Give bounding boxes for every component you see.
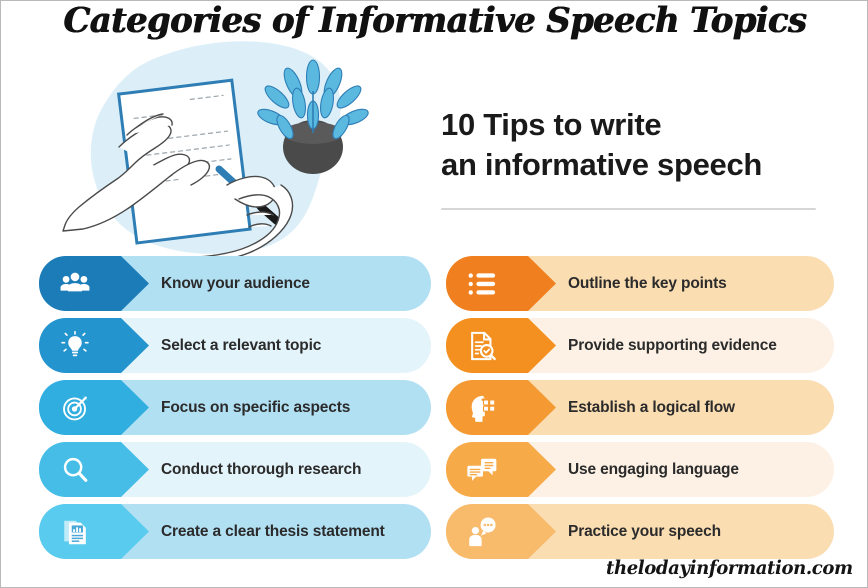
document-chart-icon: [60, 517, 90, 547]
left-tips-column: Know your audienceSelect a relevant topi…: [39, 256, 431, 566]
tip-row[interactable]: Practice your speech: [446, 504, 834, 559]
tip-label: Conduct thorough research: [161, 442, 361, 497]
right-tips-column: Outline the key pointsProvide supporting…: [446, 256, 834, 566]
document-search-icon: [467, 331, 497, 361]
tip-label: Practice your speech: [568, 504, 721, 559]
tip-row[interactable]: Provide supporting evidence: [446, 318, 834, 373]
right-heading: 10 Tips to write an informative speech: [441, 105, 841, 185]
tip-row[interactable]: Know your audience: [39, 256, 431, 311]
hands-writing-illustration: [61, 29, 441, 261]
person-speaking-icon: [467, 517, 497, 547]
tip-label: Create a clear thesis statement: [161, 504, 385, 559]
bullet-list-icon: [467, 269, 497, 299]
tip-row[interactable]: Select a relevant topic: [39, 318, 431, 373]
chat-bubbles-icon: [467, 455, 497, 485]
head-puzzle-icon: [467, 393, 497, 423]
tip-row[interactable]: Establish a logical flow: [446, 380, 834, 435]
watermark-url: thelodayinformation.com: [606, 557, 853, 579]
tip-label: Outline the key points: [568, 256, 727, 311]
tip-label: Focus on specific aspects: [161, 380, 350, 435]
tip-row[interactable]: Focus on specific aspects: [39, 380, 431, 435]
tip-label: Provide supporting evidence: [568, 318, 777, 373]
tip-row[interactable]: Conduct thorough research: [39, 442, 431, 497]
people-group-icon: [60, 269, 90, 299]
tip-label: Use engaging language: [568, 442, 739, 497]
tip-label: Know your audience: [161, 256, 310, 311]
tip-row[interactable]: Outline the key points: [446, 256, 834, 311]
tip-row[interactable]: Create a clear thesis statement: [39, 504, 431, 559]
target-dart-icon: [60, 393, 90, 423]
right-heading-line-2: an informative speech: [441, 145, 841, 185]
tip-row[interactable]: Use engaging language: [446, 442, 834, 497]
tip-label: Select a relevant topic: [161, 318, 321, 373]
lightbulb-icon: [60, 331, 90, 361]
magnifier-icon: [60, 455, 90, 485]
tip-label: Establish a logical flow: [568, 380, 735, 435]
infographic-canvas: Categories of Informative Speech Topics: [0, 0, 868, 588]
right-heading-line-1: 10 Tips to write: [441, 105, 841, 145]
heading-divider: [441, 208, 816, 210]
